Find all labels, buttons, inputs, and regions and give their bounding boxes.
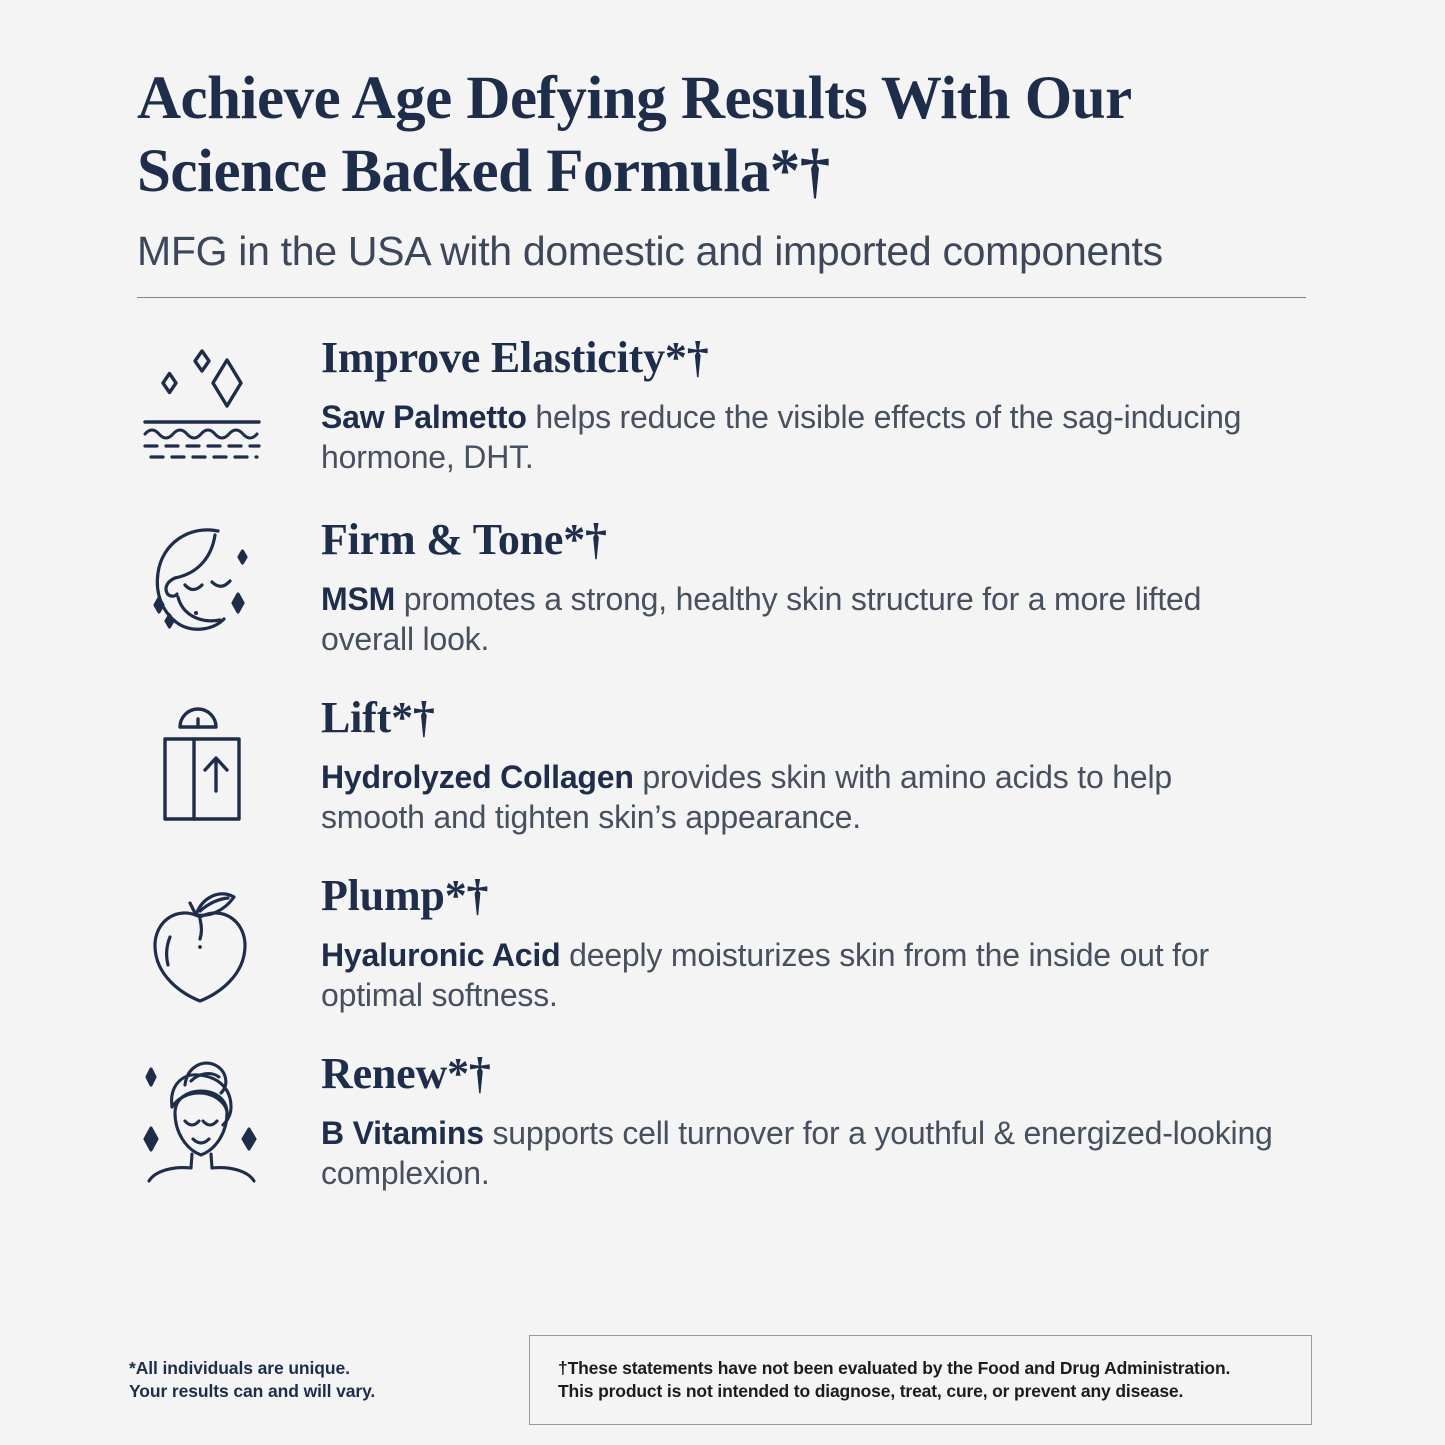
feature-description: Hydrolyzed Collagen provides skin with a… [321, 757, 1281, 837]
results-disclaimer-line-2: Your results can and will vary. [129, 1380, 529, 1403]
feature-body: Renew*† B Vitamins supports cell turnove… [267, 1049, 1317, 1193]
results-disclaimer-line-1: *All individuals are unique. [129, 1357, 529, 1380]
feature-title: Lift*† [321, 693, 1317, 743]
feature-item-firm-and-tone: Firm & Tone*† MSM promotes a strong, hea… [137, 515, 1317, 659]
product-benefits-infographic: Achieve Age Defying Results With Our Sci… [0, 0, 1445, 1445]
ingredient-name: MSM [321, 581, 395, 617]
feature-body: Plump*† Hyaluronic Acid deeply moisturiz… [267, 871, 1317, 1015]
feature-item-improve-elasticity: Improve Elasticity*† Saw Palmetto helps … [137, 333, 1317, 477]
sparkle-skin-layers-icon [137, 333, 267, 463]
feature-body: Firm & Tone*† MSM promotes a strong, hea… [267, 515, 1317, 659]
feature-item-plump: Plump*† Hyaluronic Acid deeply moisturiz… [137, 871, 1317, 1015]
feature-description: Saw Palmetto helps reduce the visible ef… [321, 397, 1281, 477]
feature-title: Improve Elasticity*† [321, 333, 1317, 383]
feature-description: Hyaluronic Acid deeply moisturizes skin … [321, 935, 1281, 1015]
header-divider [137, 297, 1306, 298]
page-subtitle: MFG in the USA with domestic and importe… [137, 226, 1312, 276]
feature-body: Improve Elasticity*† Saw Palmetto helps … [267, 333, 1317, 477]
feature-body: Lift*† Hydrolyzed Collagen provides skin… [267, 693, 1317, 837]
page-title: Achieve Age Defying Results With Our Sci… [137, 62, 1267, 208]
feature-description: MSM promotes a strong, healthy skin stru… [321, 579, 1281, 659]
feature-title: Firm & Tone*† [321, 515, 1317, 565]
ingredient-name: Hyaluronic Acid [321, 937, 560, 973]
fda-disclaimer-line-2: This product is not intended to diagnose… [558, 1380, 1287, 1403]
header: Achieve Age Defying Results With Our Sci… [137, 62, 1312, 276]
footer: *All individuals are unique. Your result… [129, 1335, 1314, 1425]
feature-list: Improve Elasticity*† Saw Palmetto helps … [137, 333, 1317, 1193]
feature-title: Renew*† [321, 1049, 1317, 1099]
ingredient-name: B Vitamins [321, 1115, 484, 1151]
feature-item-lift: Lift*† Hydrolyzed Collagen provides skin… [137, 693, 1317, 837]
feature-title: Plump*† [321, 871, 1317, 921]
towel-wrap-face-icon [137, 1049, 267, 1179]
feature-description: B Vitamins supports cell turnover for a … [321, 1113, 1281, 1193]
ingredient-name: Hydrolyzed Collagen [321, 759, 634, 795]
peach-fruit-icon [137, 871, 267, 1001]
fda-disclaimer-box: †These statements have not been evaluate… [529, 1335, 1312, 1425]
ingredient-name: Saw Palmetto [321, 399, 527, 435]
fda-disclaimer-line-1: †These statements have not been evaluate… [558, 1357, 1287, 1380]
ingredient-benefit: promotes a strong, healthy skin structur… [321, 581, 1201, 657]
results-disclaimer: *All individuals are unique. Your result… [129, 1335, 529, 1403]
feature-item-renew: Renew*† B Vitamins supports cell turnove… [137, 1049, 1317, 1193]
elevator-up-arrow-icon [137, 693, 267, 823]
tilted-face-sparkle-icon [137, 515, 267, 645]
